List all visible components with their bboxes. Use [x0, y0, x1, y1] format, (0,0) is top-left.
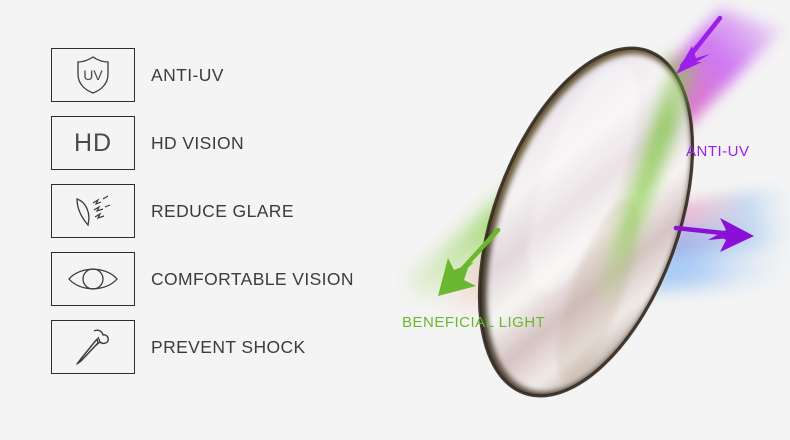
- hammer-icon: [71, 326, 115, 368]
- hd-text-icon-box: HD: [51, 116, 135, 170]
- hd-text-icon: HD: [74, 131, 112, 156]
- feature-label-prevent-shock: PREVENT SHOCK: [151, 337, 306, 358]
- feature-row-prevent-shock: PREVENT SHOCK: [51, 320, 391, 374]
- feature-list: UV ANTI-UV HD HD VISION: [51, 48, 391, 388]
- lens-illustration: ANTI-UV BENEFICIAL LIGHT: [390, 0, 790, 440]
- glare-deflect-icon-box: [51, 184, 135, 238]
- feature-row-comfortable-vision: COMFORTABLE VISION: [51, 252, 391, 306]
- feature-label-comfortable-vision: COMFORTABLE VISION: [151, 269, 354, 290]
- feature-row-reduce-glare: REDUCE GLARE: [51, 184, 391, 238]
- hammer-icon-box: [51, 320, 135, 374]
- feature-row-hd-vision: HD HD VISION: [51, 116, 391, 170]
- eye-icon: [66, 264, 120, 294]
- beam-label-beneficial-light: BENEFICIAL LIGHT: [402, 314, 545, 331]
- uv-shield-icon: UV: [73, 54, 113, 96]
- feature-row-anti-uv: UV ANTI-UV: [51, 48, 391, 102]
- eye-icon-box: [51, 252, 135, 306]
- uv-shield-icon-box: UV: [51, 48, 135, 102]
- feature-label-anti-uv: ANTI-UV: [151, 65, 224, 86]
- feature-label-reduce-glare: REDUCE GLARE: [151, 201, 294, 222]
- svg-text:UV: UV: [83, 67, 103, 83]
- infographic-canvas: UV ANTI-UV HD HD VISION: [0, 0, 790, 440]
- feature-label-hd-vision: HD VISION: [151, 133, 244, 154]
- glare-deflect-icon: [70, 191, 116, 231]
- beam-label-anti-uv: ANTI-UV: [686, 143, 750, 160]
